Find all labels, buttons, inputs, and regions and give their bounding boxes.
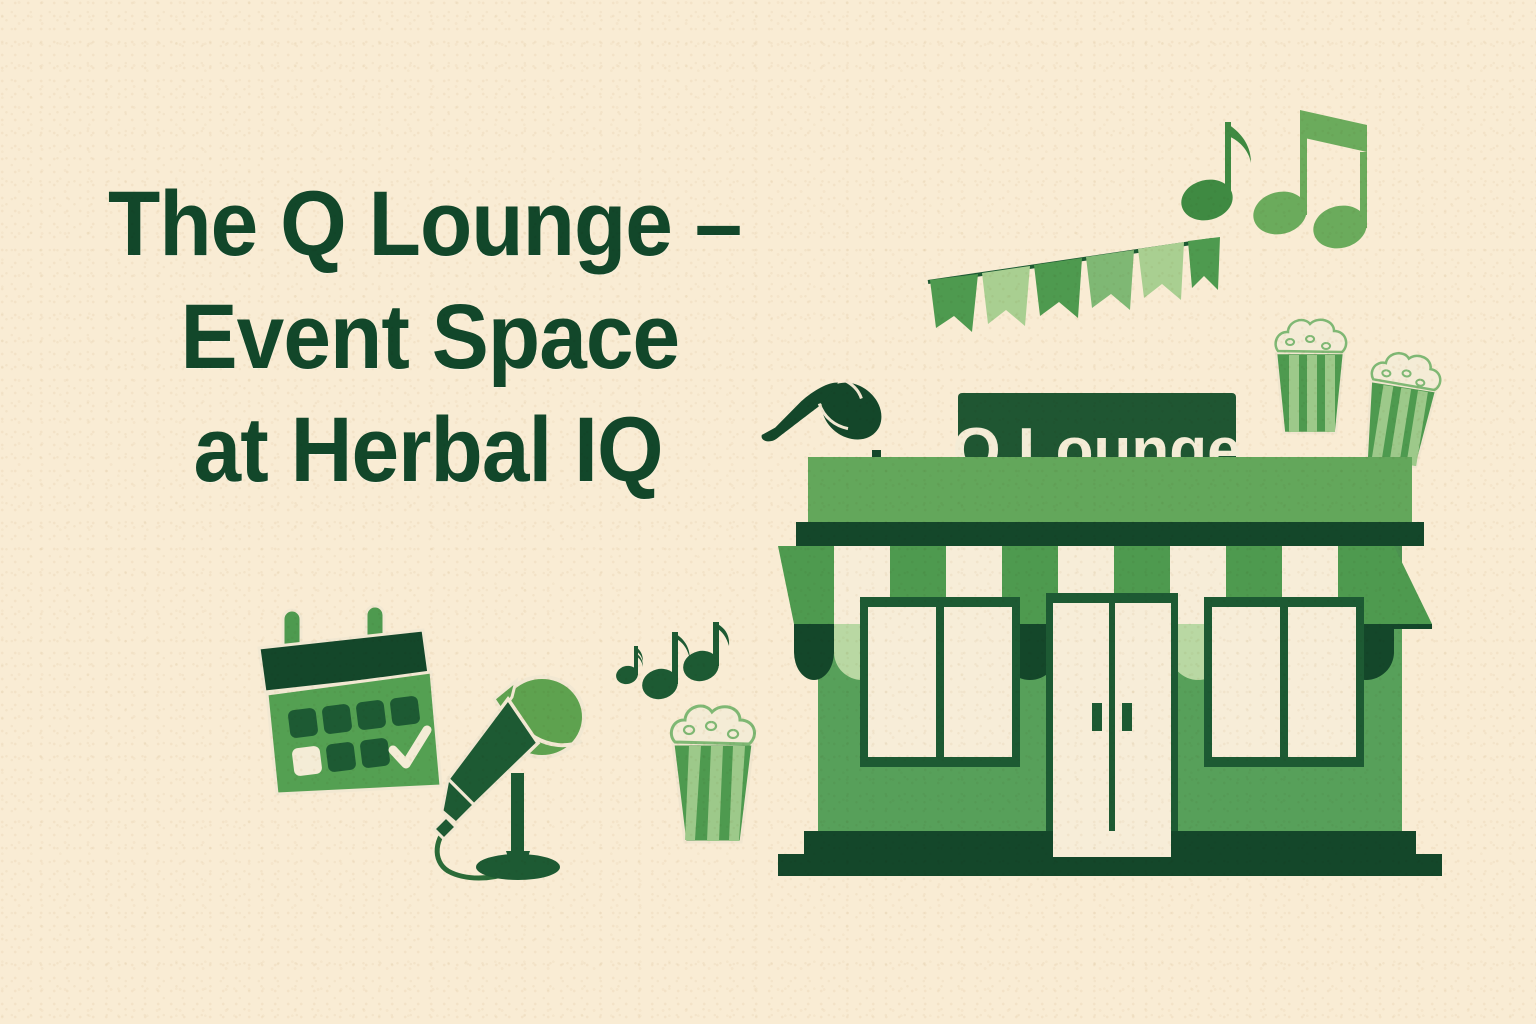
door-handle	[1122, 703, 1132, 731]
eighth-note-single	[1177, 122, 1251, 226]
mic-stand-pole	[511, 773, 524, 855]
door-threshold	[1053, 831, 1171, 857]
illustration-canvas: The Q Lounge – Event Space at Herbal IQ	[0, 0, 1536, 1024]
roof-trim	[796, 522, 1424, 546]
door-handle	[1092, 703, 1102, 731]
bunting-flag	[1034, 258, 1082, 318]
plinth-lower	[778, 854, 1442, 876]
eighth-note-pair	[1249, 110, 1372, 254]
eighth-note-large	[680, 622, 729, 685]
page-title-line-1: The Q Lounge –	[108, 168, 871, 281]
left-window	[860, 597, 1020, 767]
plinth	[778, 831, 1442, 876]
page-title-line-3: at Herbal IQ	[108, 394, 871, 507]
microphone-on-stand	[430, 655, 620, 885]
popcorn-kernels	[671, 706, 754, 744]
calendar-day-cell	[359, 737, 390, 768]
calendar-icon	[253, 604, 453, 794]
bunting-flag	[1188, 237, 1220, 290]
music-notes-top-right	[1175, 105, 1375, 235]
window-pane	[868, 607, 936, 757]
bunting-flag	[1086, 250, 1134, 310]
window-pane	[1288, 607, 1356, 757]
calendar-day-cell	[321, 703, 352, 734]
eighth-note-small	[614, 646, 643, 686]
bunting-flag	[982, 266, 1030, 326]
calendar-day-cell	[287, 707, 318, 738]
right-window	[1204, 597, 1364, 767]
storefront-illustration: Q Lounge	[760, 345, 1460, 885]
calendar-day-cell-empty	[291, 745, 322, 776]
bunting-banner	[920, 238, 1220, 353]
window-pane	[1212, 607, 1280, 757]
calendar-day-cell	[389, 695, 420, 726]
popcorn-bucket-center	[653, 692, 773, 852]
page-title-line-2: Event Space	[108, 281, 871, 394]
bunting-flag	[930, 274, 978, 332]
calendar-day-cell	[355, 699, 386, 730]
bunting-flag	[1138, 242, 1184, 300]
calendar-day-cell	[325, 741, 356, 772]
window-pane	[944, 607, 1012, 757]
